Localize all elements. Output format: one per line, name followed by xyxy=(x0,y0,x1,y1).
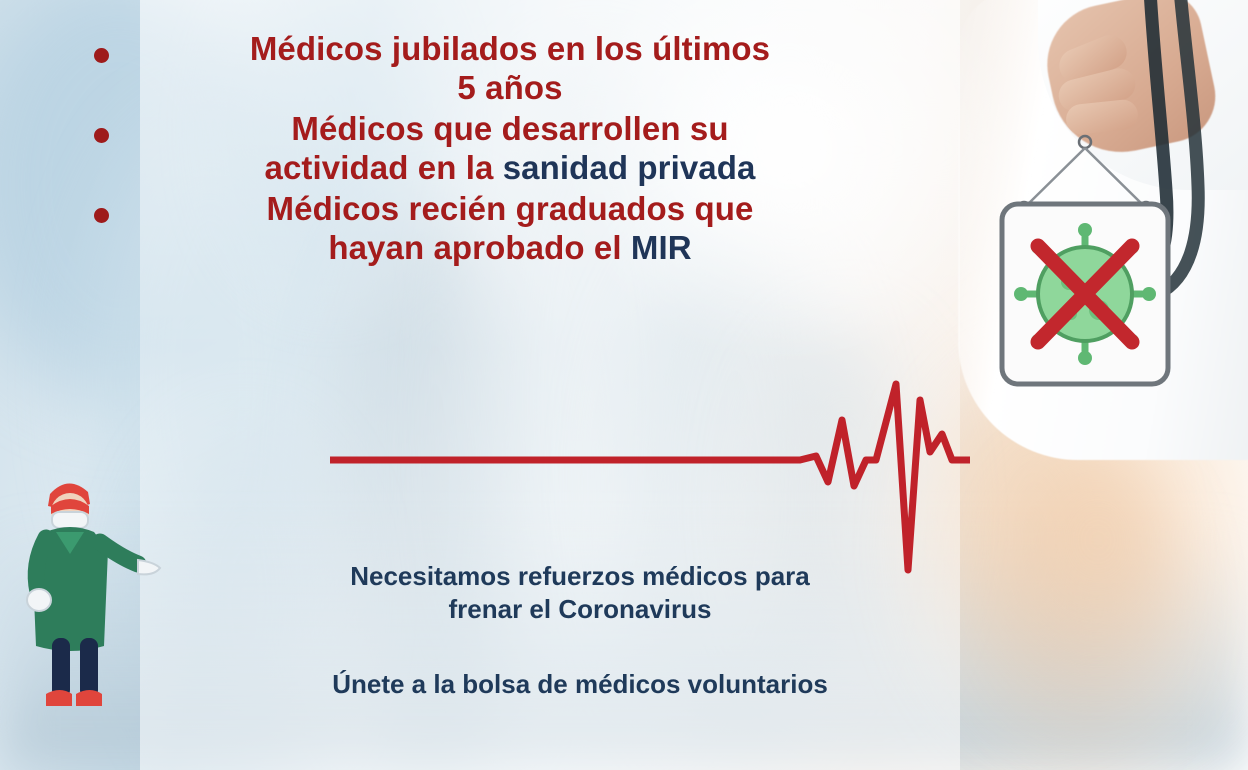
bullet-text-3: Médicos recién graduados que hayan aprob… xyxy=(70,190,950,268)
bullet-3-segment-a: Médicos recién graduados que xyxy=(267,190,754,227)
list-item: Médicos que desarrollen su actividad en … xyxy=(70,110,950,188)
bullet-2-segment-c: sanidad privada xyxy=(503,149,756,186)
bullet-dot-icon xyxy=(94,48,109,63)
bullet-3-segment-b: hayan aprobado el xyxy=(328,229,631,266)
bullet-2-segment-a: Médicos que desarrollen su xyxy=(291,110,728,147)
list-item: Médicos jubilados en los últimos 5 años xyxy=(70,30,950,108)
bullet-dot-icon xyxy=(94,128,109,143)
bullet-3-segment-c: MIR xyxy=(631,229,692,266)
bullet-1-segment-a: Médicos jubilados xyxy=(250,30,538,67)
bullet-list: Médicos jubilados en los últimos 5 años … xyxy=(70,30,950,270)
doctor-illustration xyxy=(8,460,198,720)
bullet-dot-icon xyxy=(94,208,109,223)
hanging-sign xyxy=(990,130,1180,395)
bullet-2-segment-b: actividad en la xyxy=(265,149,503,186)
bullet-1-segment-c: 5 años xyxy=(457,69,562,106)
poster-canvas: Médicos jubilados en los últimos 5 años … xyxy=(0,0,1248,770)
footer-line-3: Únete a la bolsa de médicos voluntarios xyxy=(180,669,980,700)
bullet-1-segment-b: en los últimos xyxy=(538,30,771,67)
list-item: Médicos recién graduados que hayan aprob… xyxy=(70,190,950,268)
bullet-text-2: Médicos que desarrollen su actividad en … xyxy=(70,110,950,188)
footer-text-block: Necesitamos refuerzos médicos para frena… xyxy=(180,560,980,700)
footer-line-2: frenar el Coronavirus xyxy=(180,593,980,626)
footer-line-1: Necesitamos refuerzos médicos para xyxy=(180,560,980,593)
bullet-text-1: Médicos jubilados en los últimos 5 años xyxy=(70,30,950,108)
heartbeat-line-graphic xyxy=(330,360,970,590)
